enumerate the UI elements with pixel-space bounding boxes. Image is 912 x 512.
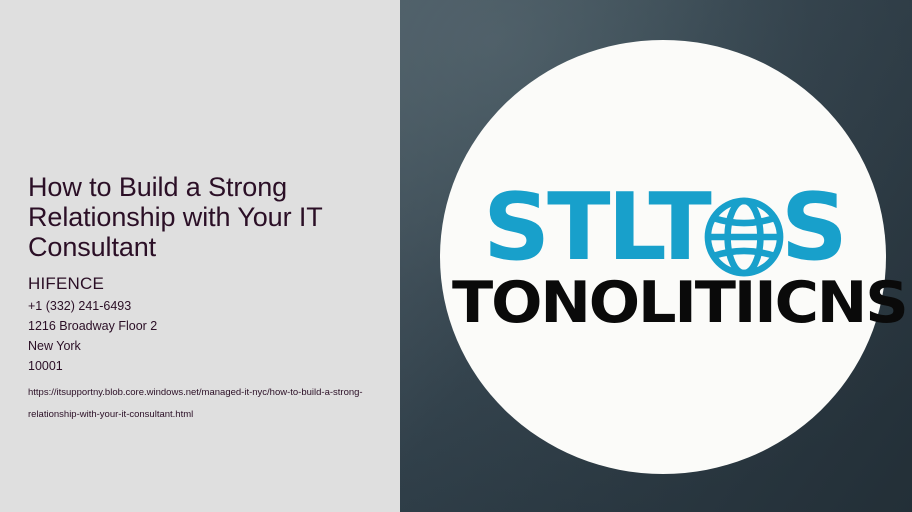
left-info-panel: How to Build a Strong Relationship with … <box>0 0 400 512</box>
logo-word-top-after-globe: S <box>781 181 845 274</box>
logo-circle-backdrop: STLT S TONOLITIICNS <box>440 40 886 474</box>
company-zip: 10001 <box>28 356 376 376</box>
company-logo: STLT S TONOLITIICNS <box>464 178 864 332</box>
logo-top-row: STLT S <box>464 178 864 274</box>
left-panel-content: How to Build a Strong Relationship with … <box>28 172 376 426</box>
right-logo-panel: STLT S TONOLITIICNS <box>400 0 912 512</box>
company-city: New York <box>28 336 376 356</box>
company-name: HIFENCE <box>28 273 376 294</box>
globe-icon <box>703 196 785 278</box>
source-url-link[interactable]: https://itsupportny.blob.core.windows.ne… <box>28 382 364 426</box>
page-title: How to Build a Strong Relationship with … <box>28 172 358 262</box>
logo-word-top-before-globe: STLT <box>483 181 709 274</box>
company-address-line1: 1216 Broadway Floor 2 <box>28 316 376 336</box>
slide-root: How to Build a Strong Relationship with … <box>0 0 912 512</box>
company-phone: +1 (332) 241-6493 <box>28 296 376 316</box>
logo-word-bottom: TONOLITIICNS <box>452 275 876 332</box>
